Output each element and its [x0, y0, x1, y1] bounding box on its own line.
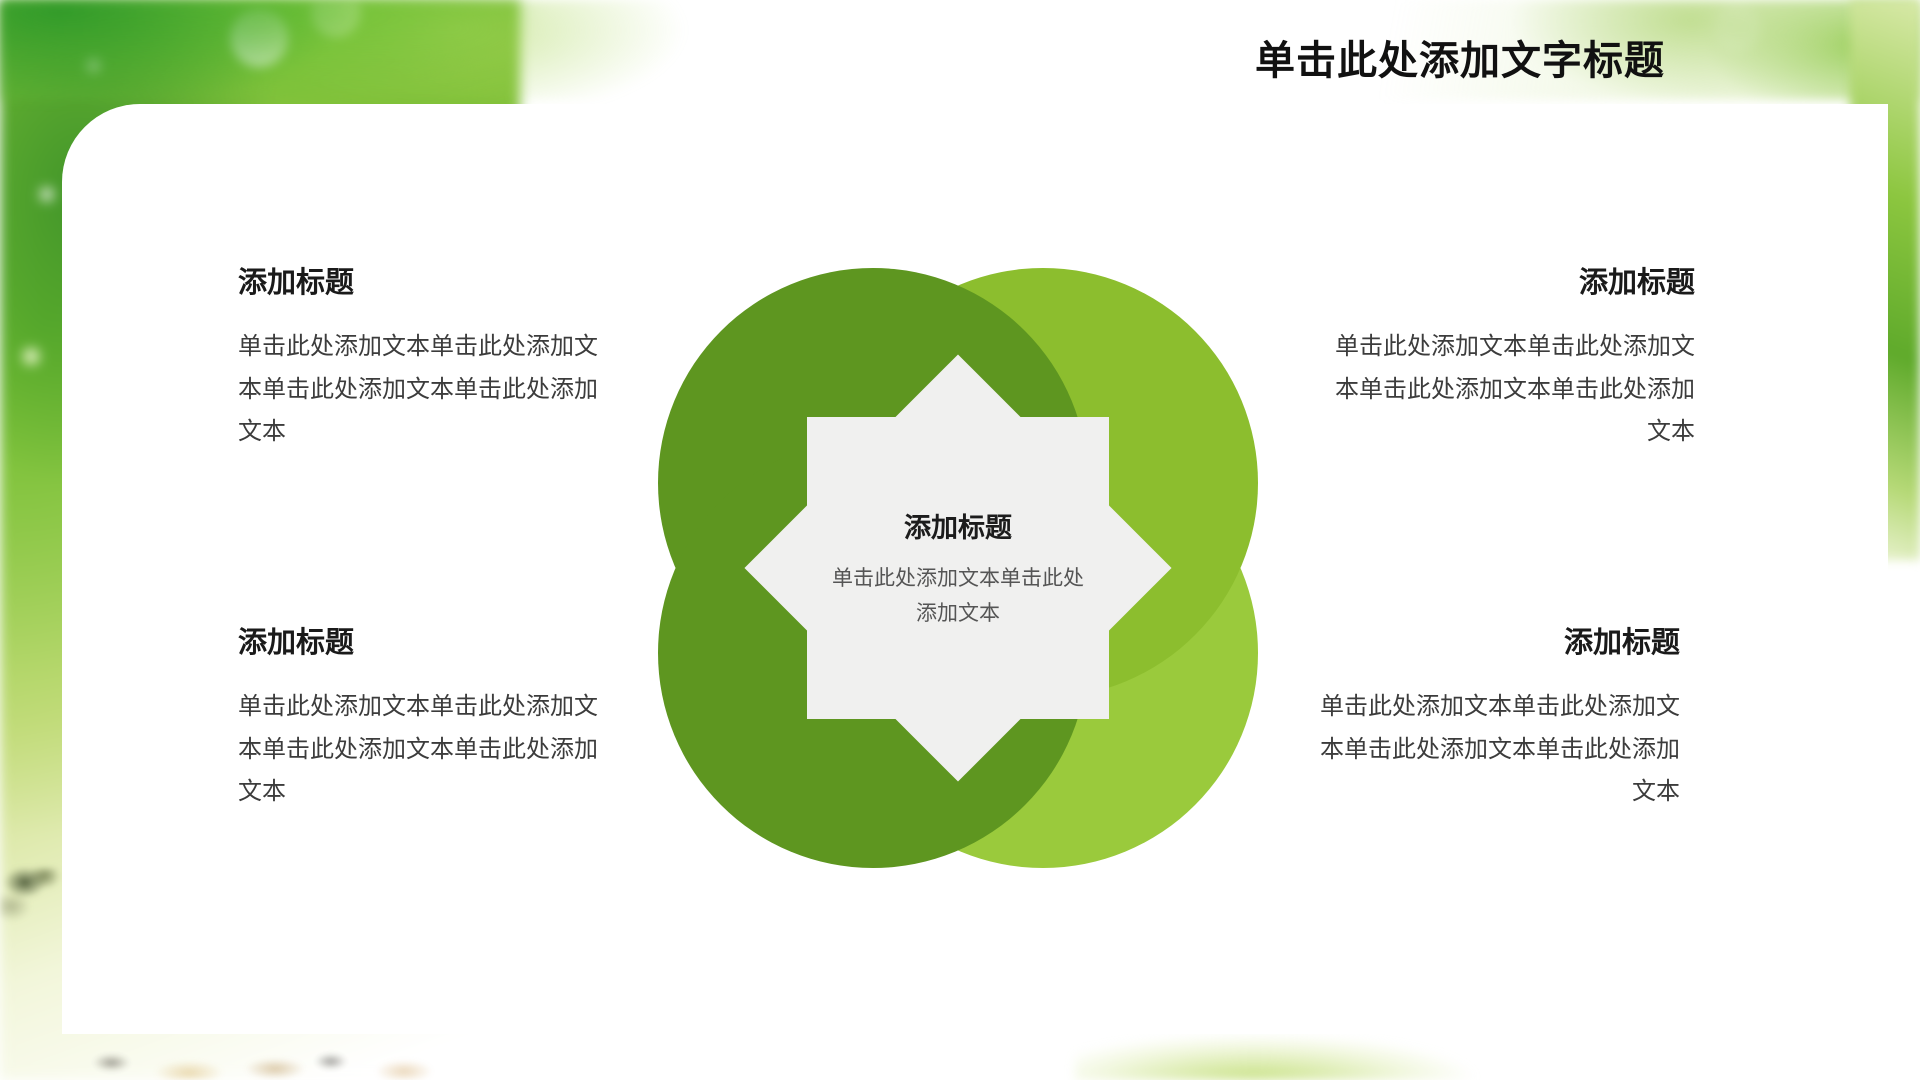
text-block-top-left: 添加标题 单击此处添加文本单击此处添加文本单击此处添加文本单击此处添加文本: [238, 268, 618, 454]
text-block-bottom-right: 添加标题 单击此处添加文本单击此处添加文本单击此处添加文本单击此处添加文本: [1300, 628, 1680, 814]
text-block-top-right-body: 单击此处添加文本单击此处添加文本单击此处添加文本单击此处添加文本: [1315, 326, 1695, 454]
text-block-top-left-heading: 添加标题: [238, 268, 618, 300]
page-title: 单击此处添加文字标题: [1255, 28, 1665, 86]
center-diagram: [658, 268, 1258, 868]
text-block-top-right-heading: 添加标题: [1315, 268, 1695, 300]
slide-canvas: 单击此处添加文字标题 添加标题 单击此处添加文本单击此处添加文本单击此处添加文本…: [0, 0, 1920, 1080]
background-foliage-left-edge: [0, 868, 62, 948]
eight-point-star[interactable]: [744, 354, 1171, 781]
text-block-bottom-left-body: 单击此处添加文本单击此处添加文本单击此处添加文本单击此处添加文本: [238, 686, 618, 814]
text-block-bottom-right-heading: 添加标题: [1300, 628, 1680, 660]
text-block-top-left-body: 单击此处添加文本单击此处添加文本单击此处添加文本单击此处添加文本: [238, 326, 618, 454]
text-block-bottom-right-body: 单击此处添加文本单击此处添加文本单击此处添加文本单击此处添加文本: [1300, 686, 1680, 814]
text-block-bottom-left: 添加标题 单击此处添加文本单击此处添加文本单击此处添加文本单击此处添加文本: [238, 628, 618, 814]
text-block-top-right: 添加标题 单击此处添加文本单击此处添加文本单击此处添加文本单击此处添加文本: [1315, 268, 1695, 454]
text-block-bottom-left-heading: 添加标题: [238, 628, 618, 660]
center-diagram-svg: [658, 268, 1258, 868]
